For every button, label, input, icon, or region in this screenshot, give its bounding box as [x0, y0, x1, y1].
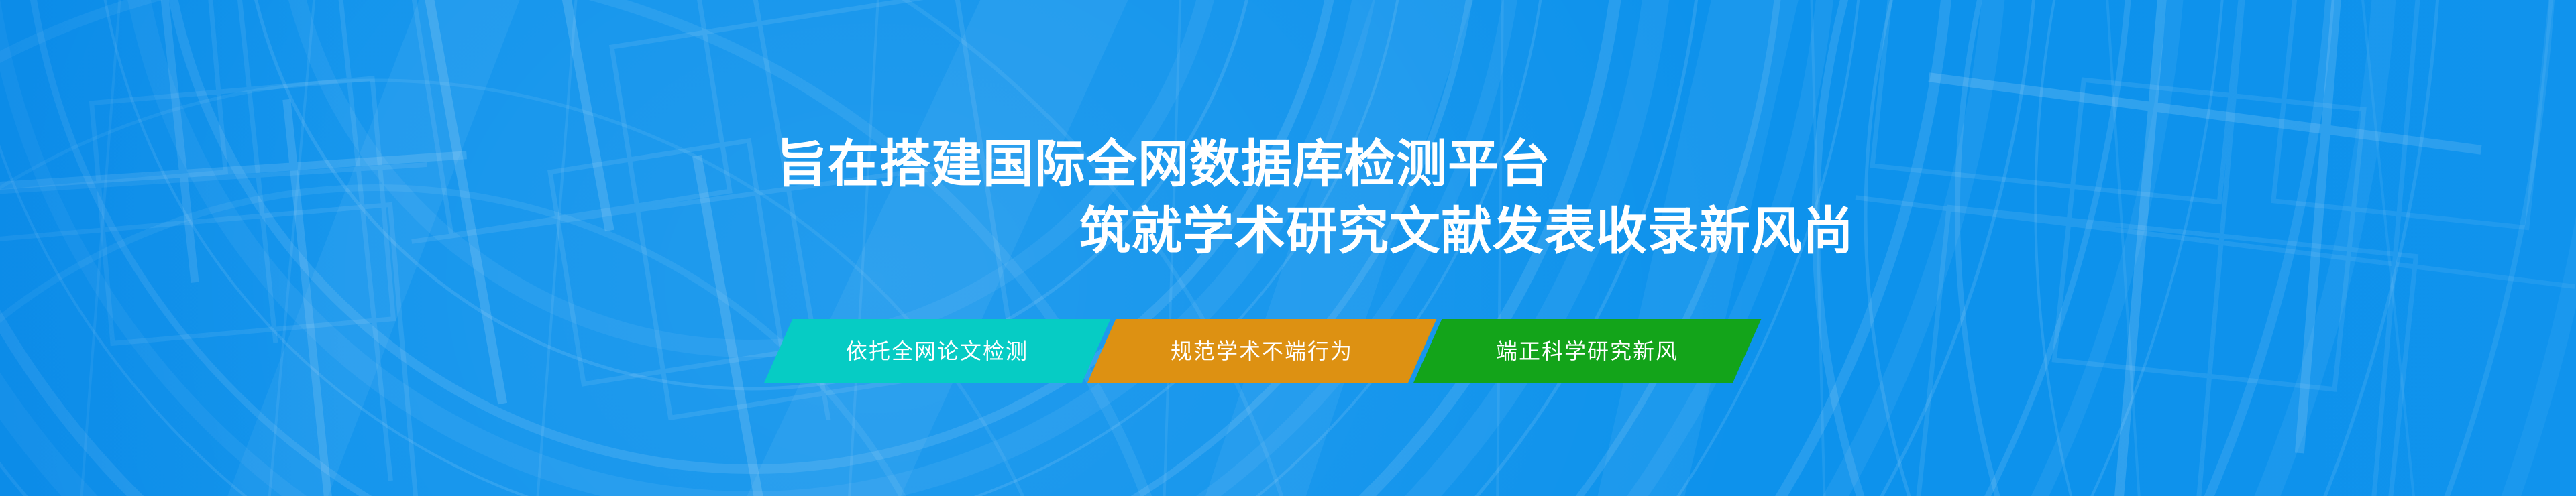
feature-tag-academic-misconduct[interactable]: 规范学术不端行为: [1087, 319, 1437, 383]
headline-block: 旨在搭建国际全网数据库检测平台 筑就学术研究文献发表收录新风尚: [0, 131, 2576, 265]
hero-banner: 旨在搭建国际全网数据库检测平台 筑就学术研究文献发表收录新风尚 依托全网论文检测…: [0, 0, 2576, 496]
feature-tag-label: 依托全网论文检测: [843, 319, 1031, 383]
feature-tag-label: 端正科学研究新风: [1493, 319, 1681, 383]
background-left-vignette: [0, 0, 349, 496]
feature-tag-strip: 依托全网论文检测 规范学术不端行为 端正科学研究新风: [778, 319, 1747, 383]
background-right-vignette: [2066, 0, 2576, 496]
headline-line-2: 筑就学术研究文献发表收录新风尚: [1079, 198, 2576, 265]
feature-tag-research-ethos[interactable]: 端正科学研究新风: [1413, 319, 1762, 383]
feature-tag-plagiarism-detection[interactable]: 依托全网论文检测: [764, 319, 1111, 383]
feature-tag-label: 规范学术不端行为: [1168, 319, 1356, 383]
background-glow: [0, 0, 2012, 496]
banner-background-pattern: [0, 0, 2576, 496]
background-arc-circuit-svg: [0, 0, 2576, 496]
headline-line-1: 旨在搭建国际全网数据库检测平台: [776, 131, 2576, 198]
